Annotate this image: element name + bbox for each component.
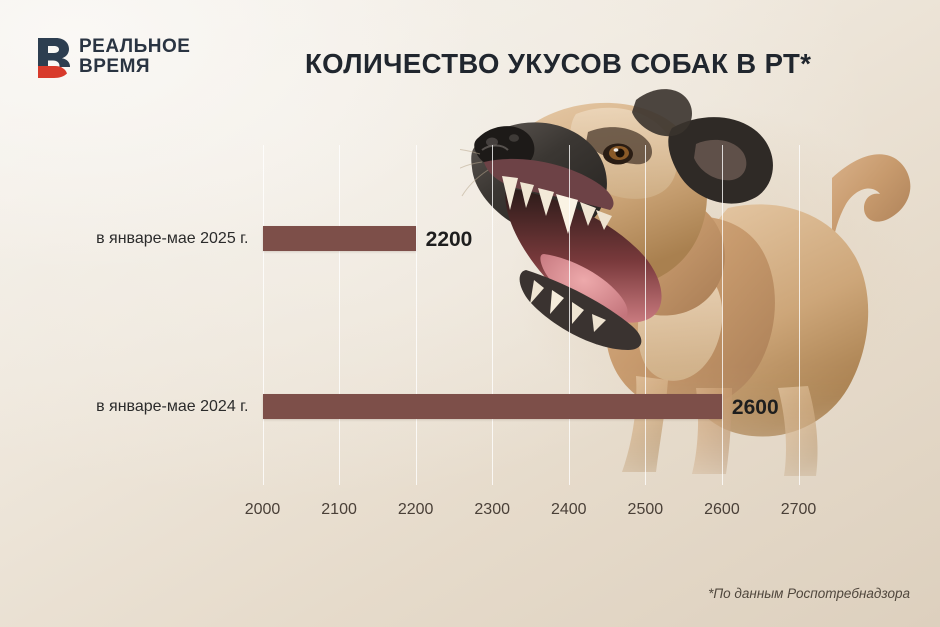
source-footnote: *По данным Роспотребнадзора bbox=[708, 586, 910, 601]
x-tick-label-2300: 2300 bbox=[457, 501, 527, 519]
gridline-2100 bbox=[339, 145, 340, 485]
x-tick-label-2100: 2100 bbox=[304, 501, 374, 519]
x-tick-label-2200: 2200 bbox=[381, 501, 451, 519]
gridline-2300 bbox=[492, 145, 493, 485]
gridline-2500 bbox=[645, 145, 646, 485]
bar-2[interactable] bbox=[263, 394, 722, 419]
infographic-poster: РЕАЛЬНОЕ ВРЕМЯ КОЛИЧЕСТВО УКУСОВ СОБАК В… bbox=[0, 0, 940, 627]
category-label-2: в январе-мае 2024 г. bbox=[96, 398, 248, 416]
bar-value-1: 2200 bbox=[426, 228, 473, 252]
gridline-2700 bbox=[799, 145, 800, 485]
gridline-2600 bbox=[722, 145, 723, 485]
x-tick-label-2000: 2000 bbox=[228, 501, 298, 519]
gridline-2200 bbox=[416, 145, 417, 485]
x-tick-label-2600: 2600 bbox=[687, 501, 757, 519]
gridline-2400 bbox=[569, 145, 570, 485]
category-label-1: в январе-мае 2025 г. bbox=[96, 230, 248, 248]
bar-chart: 22002600 в январе-мае 2025 г.в январе-ма… bbox=[0, 0, 940, 627]
bar-1[interactable] bbox=[263, 226, 416, 251]
bar-value-2: 2600 bbox=[732, 396, 779, 420]
gridline-2000 bbox=[263, 145, 264, 485]
x-tick-label-2700: 2700 bbox=[764, 501, 834, 519]
x-tick-label-2400: 2400 bbox=[534, 501, 604, 519]
x-tick-label-2500: 2500 bbox=[610, 501, 680, 519]
